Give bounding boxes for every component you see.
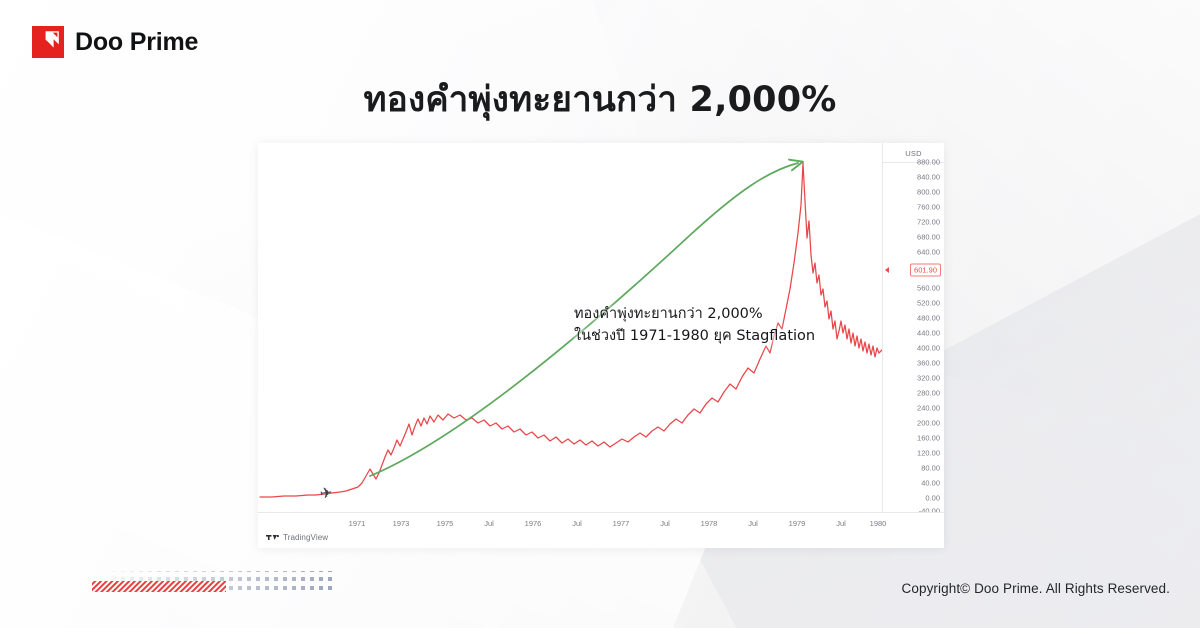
time-tick: 1973 bbox=[393, 519, 410, 528]
last-price-tag: 601.90 bbox=[910, 264, 941, 277]
price-tick: 800.00 bbox=[883, 188, 940, 197]
time-tick: 1971 bbox=[349, 519, 366, 528]
price-tick: 520.00 bbox=[883, 299, 940, 308]
tradingview-logo-icon bbox=[266, 533, 279, 542]
time-tick: Jul bbox=[484, 519, 494, 528]
time-tick: 1978 bbox=[701, 519, 718, 528]
doo-prime-logo-icon bbox=[32, 26, 64, 58]
price-tick: 440.00 bbox=[883, 329, 940, 338]
time-tick: 1979 bbox=[789, 519, 806, 528]
price-tick: 320.00 bbox=[883, 374, 940, 383]
time-tick: Jul bbox=[572, 519, 582, 528]
hatch-and-dots-decoration bbox=[92, 566, 342, 602]
page-title: ทองคำพุ่งทะยานกว่า 2,000% bbox=[0, 72, 1200, 127]
price-tick: 560.00 bbox=[883, 284, 940, 293]
price-tick: 80.00 bbox=[883, 464, 940, 473]
price-tick: 120.00 bbox=[883, 449, 940, 458]
time-tick: Jul bbox=[660, 519, 670, 528]
price-axis[interactable]: USD 880.00 840.00 800.00 760.00 720.00 6… bbox=[882, 143, 944, 512]
time-tick: 1975 bbox=[437, 519, 454, 528]
time-tick: 1980 bbox=[870, 519, 887, 528]
poster-canvas: Doo Prime ทองคำพุ่งทะยานกว่า 2,000% bbox=[0, 0, 1200, 628]
annotation-line-2: ในช่วงปี 1971-1980 ยุค Stagflation bbox=[574, 328, 815, 344]
price-tick: 200.00 bbox=[883, 419, 940, 428]
brand-name: Doo Prime bbox=[75, 30, 198, 55]
footer-decoration bbox=[92, 566, 342, 602]
time-tick: 1976 bbox=[525, 519, 542, 528]
tradingview-label: TradingView bbox=[283, 533, 328, 542]
time-tick: Jul bbox=[748, 519, 758, 528]
chart-annotation: ทองคำพุ่งทะยานกว่า 2,000%ในช่วงปี 1971-1… bbox=[574, 303, 815, 347]
last-price-pointer bbox=[885, 267, 889, 273]
time-axis[interactable]: 1971 1973 1975 Jul 1976 Jul 1977 Jul 197… bbox=[258, 512, 944, 548]
chart-card: ✈ USD 880.00 840.00 800.00 760.00 720.00… bbox=[258, 143, 944, 548]
price-tick: 760.00 bbox=[883, 203, 940, 212]
price-tick: 680.00 bbox=[883, 233, 940, 242]
tradingview-watermark[interactable]: TradingView bbox=[266, 533, 328, 542]
price-tick: 480.00 bbox=[883, 314, 940, 323]
time-tick: Jul bbox=[836, 519, 846, 528]
price-tick: 720.00 bbox=[883, 218, 940, 227]
price-tick: 240.00 bbox=[883, 404, 940, 413]
price-tick: 160.00 bbox=[883, 434, 940, 443]
price-tick: 360.00 bbox=[883, 359, 940, 368]
price-tick: 0.00 bbox=[883, 494, 940, 503]
annotation-line-1: ทองคำพุ่งทะยานกว่า 2,000% bbox=[574, 306, 763, 322]
copyright-text: Copyright© Doo Prime. All Rights Reserve… bbox=[902, 581, 1171, 596]
price-tick: 880.00 bbox=[883, 158, 940, 167]
time-tick: 1977 bbox=[613, 519, 630, 528]
price-tick: 640.00 bbox=[883, 248, 940, 257]
price-tick: 280.00 bbox=[883, 389, 940, 398]
brand-logo: Doo Prime bbox=[32, 26, 198, 58]
cursor-artifact-icon: ✈ bbox=[319, 485, 334, 502]
price-tick: 400.00 bbox=[883, 344, 940, 353]
price-tick: 40.00 bbox=[883, 479, 940, 488]
price-tick: 840.00 bbox=[883, 173, 940, 182]
